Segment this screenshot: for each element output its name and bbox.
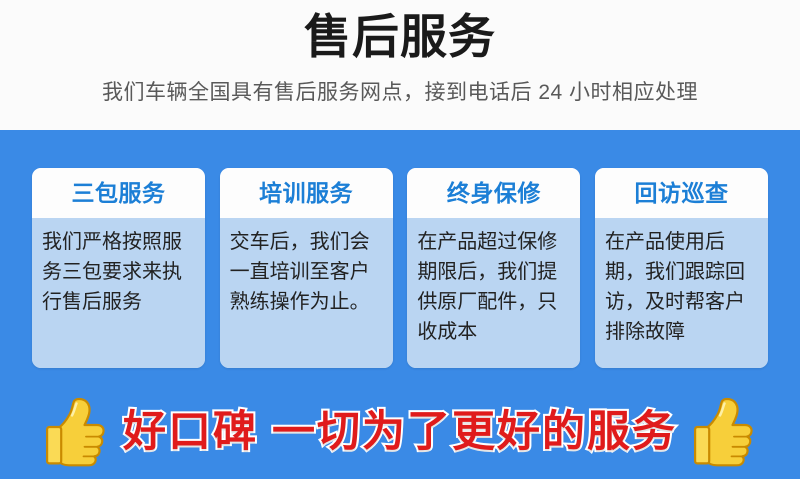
- service-card-title: 培训服务: [259, 180, 353, 207]
- page-subtitle: 我们车辆全国具有售后服务网点，接到电话后 24 小时相应处理: [0, 66, 800, 106]
- service-card-text: 在产品使用后期，我们跟踪回访，及时帮客户排除故障: [605, 227, 758, 347]
- thumbs-up-icon: [45, 395, 107, 469]
- service-promo-page: 售后服务 我们车辆全国具有售后服务网点，接到电话后 24 小时相应处理 三包服务…: [0, 0, 800, 479]
- service-card-training[interactable]: 培训服务 交车后，我们会一直培训至客户熟练操作为止。: [220, 168, 393, 368]
- service-card-text: 在产品超过保修期限后，我们提供原厂配件，只收成本: [417, 227, 570, 347]
- service-card-text: 交车后，我们会一直培训至客户熟练操作为止。: [230, 227, 383, 317]
- service-card-body: 在产品超过保修期限后，我们提供原厂配件，只收成本: [407, 218, 580, 368]
- service-card-body: 我们严格按照服务三包要求来执行售后服务: [32, 218, 205, 368]
- slogan-banner: 好口碑 一切为了更好的服务: [0, 385, 800, 479]
- thumbs-up-icon: [693, 395, 755, 469]
- service-card-sanbao[interactable]: 三包服务 我们严格按照服务三包要求来执行售后服务: [32, 168, 205, 368]
- service-card-body: 在产品使用后期，我们跟踪回访，及时帮客户排除故障: [595, 218, 768, 368]
- service-card-title: 终身保修: [447, 180, 541, 207]
- service-card-header: 三包服务: [32, 168, 205, 218]
- service-card-followup-visit[interactable]: 回访巡查 在产品使用后期，我们跟踪回访，及时帮客户排除故障: [595, 168, 768, 368]
- service-card-title: 三包服务: [72, 180, 166, 207]
- service-card-header: 回访巡查: [595, 168, 768, 218]
- service-cards-row: 三包服务 我们严格按照服务三包要求来执行售后服务 培训服务 交车后，我们会一直培…: [32, 168, 768, 368]
- service-card-title: 回访巡查: [634, 180, 728, 207]
- service-card-header: 终身保修: [407, 168, 580, 218]
- page-title: 售后服务: [0, 0, 800, 66]
- page-header: 售后服务 我们车辆全国具有售后服务网点，接到电话后 24 小时相应处理: [0, 0, 800, 130]
- service-card-lifetime-warranty[interactable]: 终身保修 在产品超过保修期限后，我们提供原厂配件，只收成本: [407, 168, 580, 368]
- service-card-text: 我们严格按照服务三包要求来执行售后服务: [42, 227, 195, 317]
- slogan-text: 好口碑 一切为了更好的服务: [123, 406, 677, 458]
- blue-content-band: 三包服务 我们严格按照服务三包要求来执行售后服务 培训服务 交车后，我们会一直培…: [0, 130, 800, 479]
- service-card-header: 培训服务: [220, 168, 393, 218]
- service-card-body: 交车后，我们会一直培训至客户熟练操作为止。: [220, 218, 393, 368]
